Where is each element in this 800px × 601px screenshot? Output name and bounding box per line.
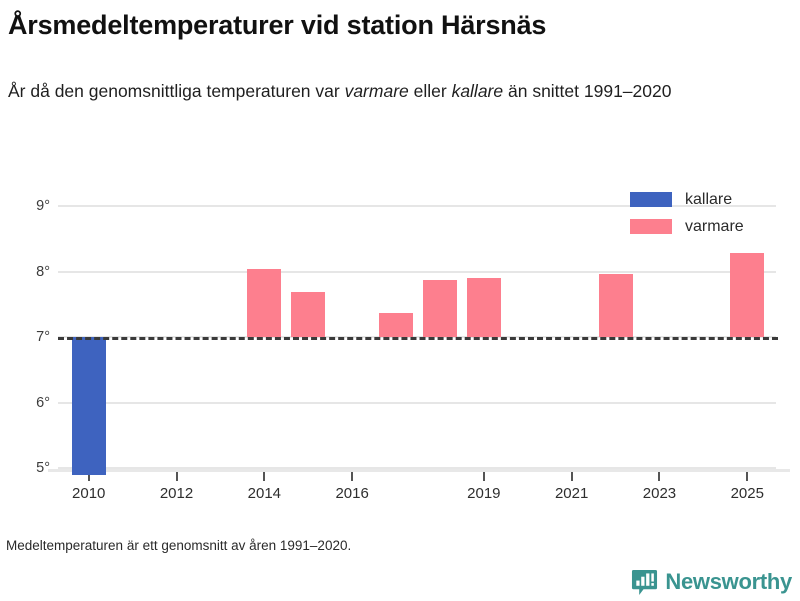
gridline-y [58, 271, 776, 273]
x-axis-tick-label: 2019 [454, 485, 514, 503]
y-axis-tick-label: 7° [8, 330, 50, 344]
legend-label-kallare: kallare [685, 191, 732, 209]
x-axis-tick [176, 472, 178, 481]
chart-bar[interactable] [730, 253, 764, 337]
x-axis-tick-label: 2014 [234, 485, 294, 503]
subtitle-emphasis-varmare: varmare [345, 81, 409, 101]
gridline-y [58, 402, 776, 404]
legend-item-varmare[interactable]: varmare [630, 213, 744, 240]
newsworthy-logo[interactable]: Newsworthy [631, 568, 792, 596]
chart-bar[interactable] [291, 292, 325, 337]
x-axis-tick-label: 2010 [59, 485, 119, 503]
subtitle-text-c: än snittet 1991–2020 [503, 81, 671, 101]
x-axis-tick-label: 2023 [629, 485, 689, 503]
chart-bar[interactable] [423, 280, 457, 337]
chart-page: Årsmedeltemperaturer vid station Härsnäs… [0, 0, 800, 600]
subtitle-emphasis-kallare: kallare [452, 81, 504, 101]
chart-bar[interactable] [72, 337, 106, 475]
chart-bar[interactable] [467, 278, 501, 337]
x-axis-tick-label: 2025 [717, 485, 777, 503]
x-axis-tick [483, 472, 485, 481]
y-axis-tick-label: 6° [8, 396, 50, 410]
page-subtitle: År då den genomsnittliga temperaturen va… [8, 76, 778, 106]
x-axis-tick-label: 2021 [542, 485, 602, 503]
x-axis-rule [48, 469, 790, 472]
page-title: Årsmedeltemperaturer vid station Härsnäs [8, 8, 788, 42]
x-axis-tick [571, 472, 573, 481]
chart-bar[interactable] [599, 274, 633, 337]
newsworthy-wordmark: Newsworthy [665, 569, 792, 595]
subtitle-text-a: År då den genomsnittliga temperaturen va… [8, 81, 345, 101]
legend-swatch-varmare [630, 219, 672, 234]
chart-bar[interactable] [379, 313, 413, 337]
legend-swatch-kallare [630, 192, 672, 207]
x-axis-tick-label: 2012 [147, 485, 207, 503]
y-axis-tick-label: 9° [8, 199, 50, 213]
x-axis-tick-label: 2016 [322, 485, 382, 503]
y-axis-tick-label: 8° [8, 265, 50, 279]
bar-chart-speech-bubble-icon [631, 569, 658, 596]
x-axis-tick [351, 472, 353, 481]
chart-legend: kallare varmare [630, 186, 744, 240]
x-axis-tick [746, 472, 748, 481]
legend-item-kallare[interactable]: kallare [630, 186, 744, 213]
y-axis-tick-label: 5° [8, 461, 50, 475]
chart-source-note: Medeltemperaturen är ett genomsnitt av å… [6, 538, 351, 553]
x-axis-tick [658, 472, 660, 481]
chart-bar[interactable] [247, 269, 281, 337]
legend-label-varmare: varmare [685, 218, 744, 236]
baseline-average-line [58, 337, 778, 340]
subtitle-text-b: eller [409, 81, 452, 101]
x-axis-tick [263, 472, 265, 481]
